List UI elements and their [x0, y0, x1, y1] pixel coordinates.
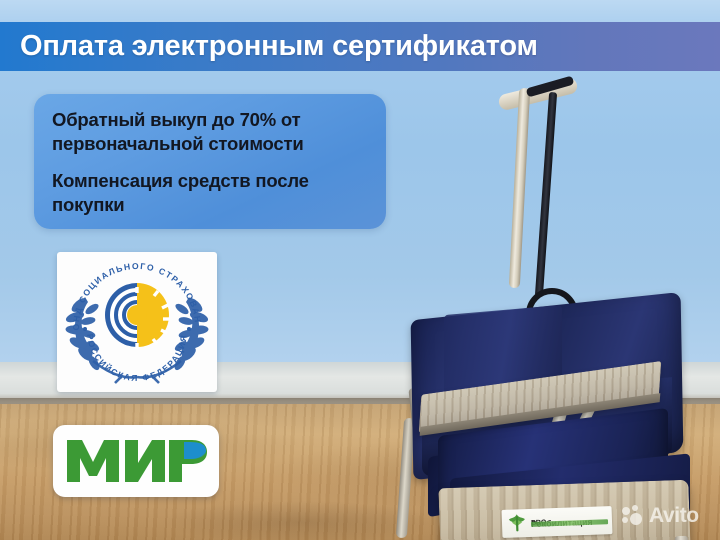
trapeze-strap	[535, 92, 557, 297]
brand-plate: РеабилитацияPRO	[502, 506, 613, 538]
medical-cross-icon	[506, 513, 529, 534]
avito-watermark: Avito	[622, 500, 714, 530]
medical-care-bed: РеабилитацияPRO	[398, 88, 720, 540]
listing-image: РеабилитацияPRO Оплата электронным серти…	[0, 0, 720, 540]
mir-logo-badge	[53, 425, 219, 497]
avito-wordmark: Avito	[649, 505, 699, 526]
benefit-line-2: Компенсация средств после покупки	[52, 169, 368, 216]
fss-emblem: ФОНД СОЦИАЛЬНОГО СТРАХОВАНИЯ РОССИЙСКАЯ …	[63, 257, 211, 387]
benefits-card: Обратный выкуп до 70% от первоначальной …	[34, 94, 386, 229]
fss-logo-badge: ФОНД СОЦИАЛЬНОГО СТРАХОВАНИЯ РОССИЙСКАЯ …	[57, 252, 217, 392]
mir-wordmark	[65, 438, 207, 484]
brand-text: РеабилитацияPRO	[531, 517, 608, 527]
header-banner: Оплата электронным сертификатом	[0, 22, 720, 71]
trapeze-bar	[509, 88, 530, 288]
avito-logo-icon	[622, 505, 644, 525]
benefit-line-1: Обратный выкуп до 70% от первоначальной …	[52, 108, 368, 155]
banner-title: Оплата электронным сертификатом	[20, 30, 538, 63]
